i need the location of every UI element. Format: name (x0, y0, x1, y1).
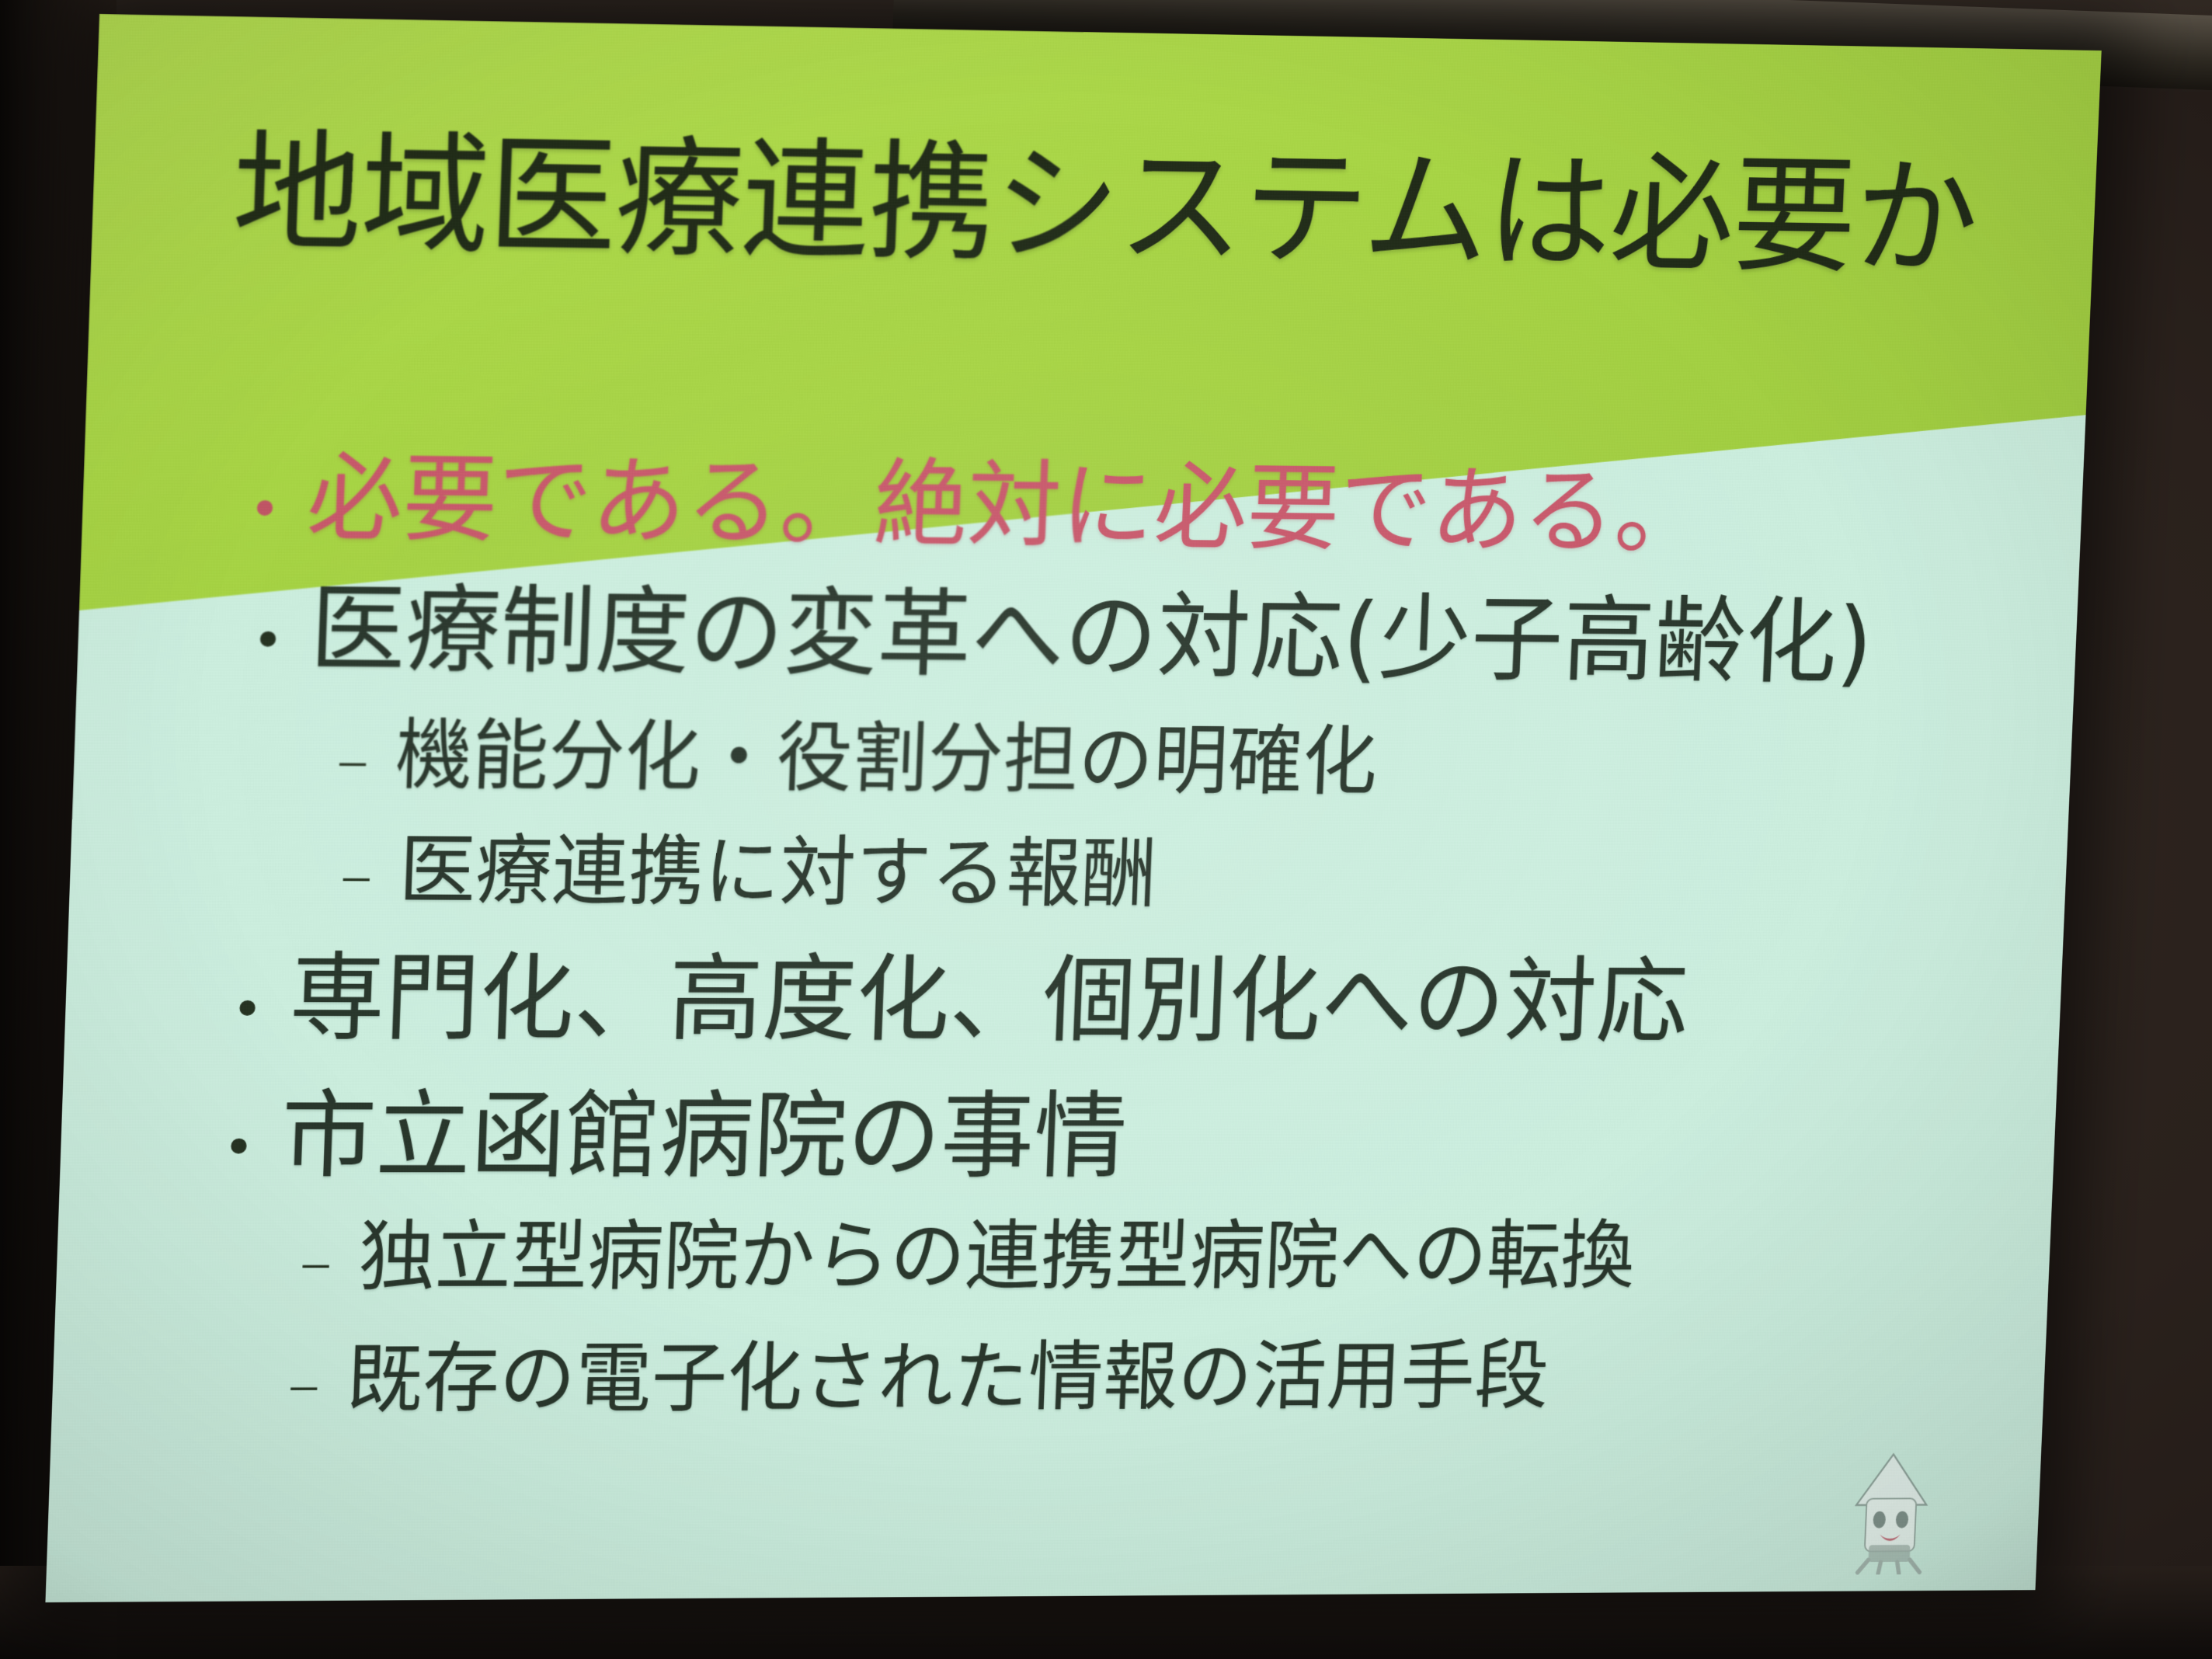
bullet-label: 医療連携に対する報酬 (398, 832, 1158, 912)
bullet-marker: – (336, 717, 371, 794)
bullet-marker: • (222, 1089, 257, 1175)
presentation-slide: 地域医療連携システムは必要か • 必要である。絶対に必要である。 • 医療制度の… (45, 14, 2101, 1602)
bullet-item-3: • 専門化、高度化、個別化への対応 (230, 951, 1689, 1049)
bullet-label: 機能分化・役割分担の明確化 (395, 717, 1379, 800)
bullet-label: 医療制度の変革への対応(少子高齢化) (308, 582, 1874, 690)
squid-mascot-icon (1834, 1448, 1949, 1575)
bullet-label: 市立函館病院の事情 (280, 1089, 1129, 1184)
bullet-item-2: • 医療制度の変革への対応(少子高齢化) (251, 581, 1874, 690)
bullet-label: 専門化、高度化、個別化への対応 (288, 951, 1690, 1049)
slide-body: • 必要である。絶対に必要である。 • 医療制度の変革への対応(少子高齢化) –… (45, 14, 2101, 1602)
bullet-item-4: • 市立函館病院の事情 (221, 1089, 1129, 1184)
subbullet-item-2: – 医療連携に対する報酬 (339, 832, 1158, 913)
bullet-marker: • (248, 450, 283, 537)
subbullet-item-1: – 機能分化・役割分担の明確化 (336, 717, 1379, 800)
bullet-marker: – (287, 1341, 322, 1418)
projection-screen: 地域医療連携システムは必要か • 必要である。絶対に必要である。 • 医療制度の… (99, 0, 2196, 1639)
bullet-item-1: • 必要である。絶対に必要である。 (248, 450, 1709, 560)
bullet-marker: – (339, 832, 374, 909)
bullet-label: 既存の電子化された情報の活用手段 (346, 1338, 1550, 1417)
bullet-marker: • (231, 951, 266, 1037)
bullet-marker: • (251, 581, 286, 667)
subbullet-item-3: – 独立型病院からの連携型病院への転換 (298, 1219, 1636, 1296)
bullet-label: 独立型病院からの連携型病院への転換 (357, 1219, 1636, 1296)
bullet-marker: – (298, 1219, 334, 1296)
bullet-label: 必要である。絶対に必要である。 (305, 450, 1708, 560)
subbullet-item-4: – 既存の電子化された情報の活用手段 (287, 1338, 1550, 1417)
